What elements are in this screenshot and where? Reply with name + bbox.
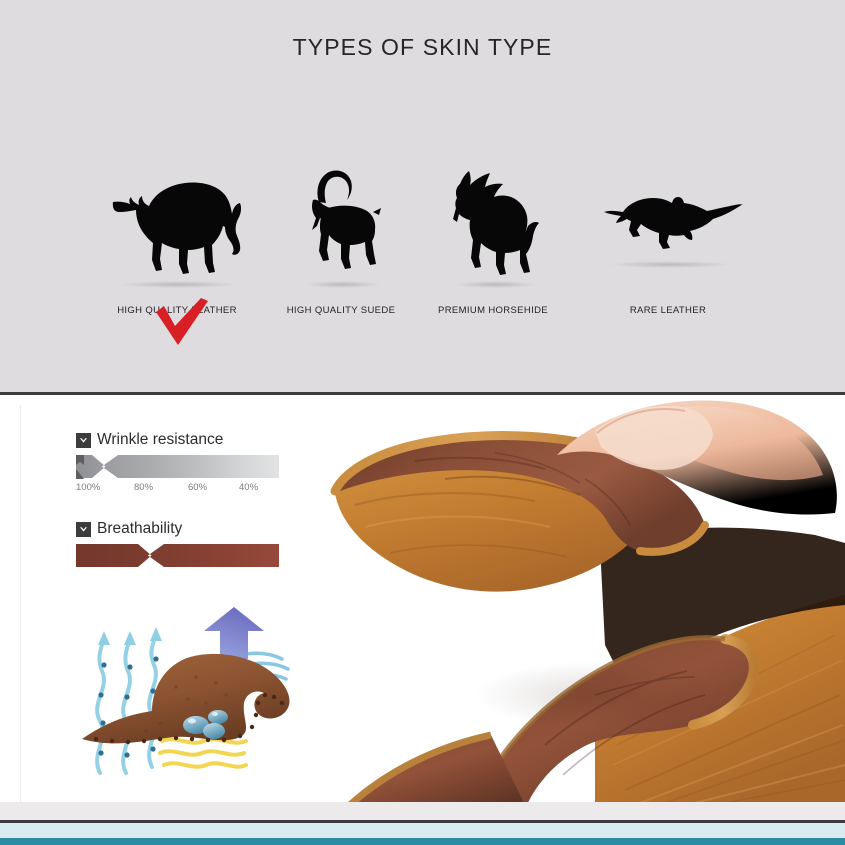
scale-tick-40: 40%: [239, 482, 258, 493]
breathability-bar: [76, 544, 279, 567]
footer-strip-teal-light: [0, 823, 845, 838]
skin-type-label-crocodile: RARE LEATHER: [588, 305, 748, 316]
wrinkle-resistance-bar: [76, 455, 279, 478]
animal-silhouette-row: [0, 160, 845, 290]
product-detail-page: TYPES OF SKIN TYPE: [0, 0, 845, 845]
skin-types-panel: TYPES OF SKIN TYPE: [0, 0, 845, 392]
spec-wrinkle-resistance: Wrinkle resistance 100% 80% 60% 40%: [76, 431, 291, 498]
spec-header: Breathability: [76, 520, 291, 538]
page-title: TYPES OF SKIN TYPE: [0, 34, 845, 61]
horse-silhouette-icon: [443, 160, 548, 285]
animal-label-row: HIGH QUALITY LEATHER HIGH QUALITY SUEDE …: [0, 305, 845, 345]
footer-strip-teal: [0, 838, 845, 845]
skin-type-item-goat[interactable]: [295, 160, 390, 290]
spec-header: Wrinkle resistance: [76, 431, 291, 449]
bar-marker-icon: [75, 455, 88, 480]
scale-tick-80: 80%: [134, 482, 153, 493]
skin-type-label-bull: HIGH QUALITY LEATHER: [92, 305, 262, 316]
scale-tick-100: 100%: [76, 482, 100, 493]
scale-tick-60: 60%: [188, 482, 207, 493]
goat-silhouette-icon: [295, 160, 390, 285]
checkbox-chevron-icon: [76, 433, 91, 448]
leather-breathability-diagram: [56, 603, 346, 778]
skin-type-item-bull[interactable]: [105, 160, 250, 290]
spec-title-wrinkle: Wrinkle resistance: [97, 431, 223, 449]
footer-strip-grey: [0, 802, 845, 820]
leather-features-panel: Wrinkle resistance 100% 80% 60% 40%: [0, 395, 845, 820]
wrinkle-scale-row: 100% 80% 60% 40%: [76, 482, 279, 498]
skin-type-label-goat: HIGH QUALITY SUEDE: [261, 305, 421, 316]
leather-hide-photo: [295, 395, 845, 805]
solid-bar-brown: [76, 544, 279, 567]
skin-type-item-crocodile[interactable]: [595, 160, 745, 290]
skin-type-label-horse: PREMIUM HORSEHIDE: [413, 305, 573, 316]
spec-breathability: Breathability: [76, 520, 291, 567]
checkbox-chevron-icon: [76, 522, 91, 537]
skin-type-item-horse[interactable]: [443, 160, 548, 290]
spec-title-breathability: Breathability: [97, 520, 182, 538]
bull-silhouette-icon: [105, 160, 250, 285]
